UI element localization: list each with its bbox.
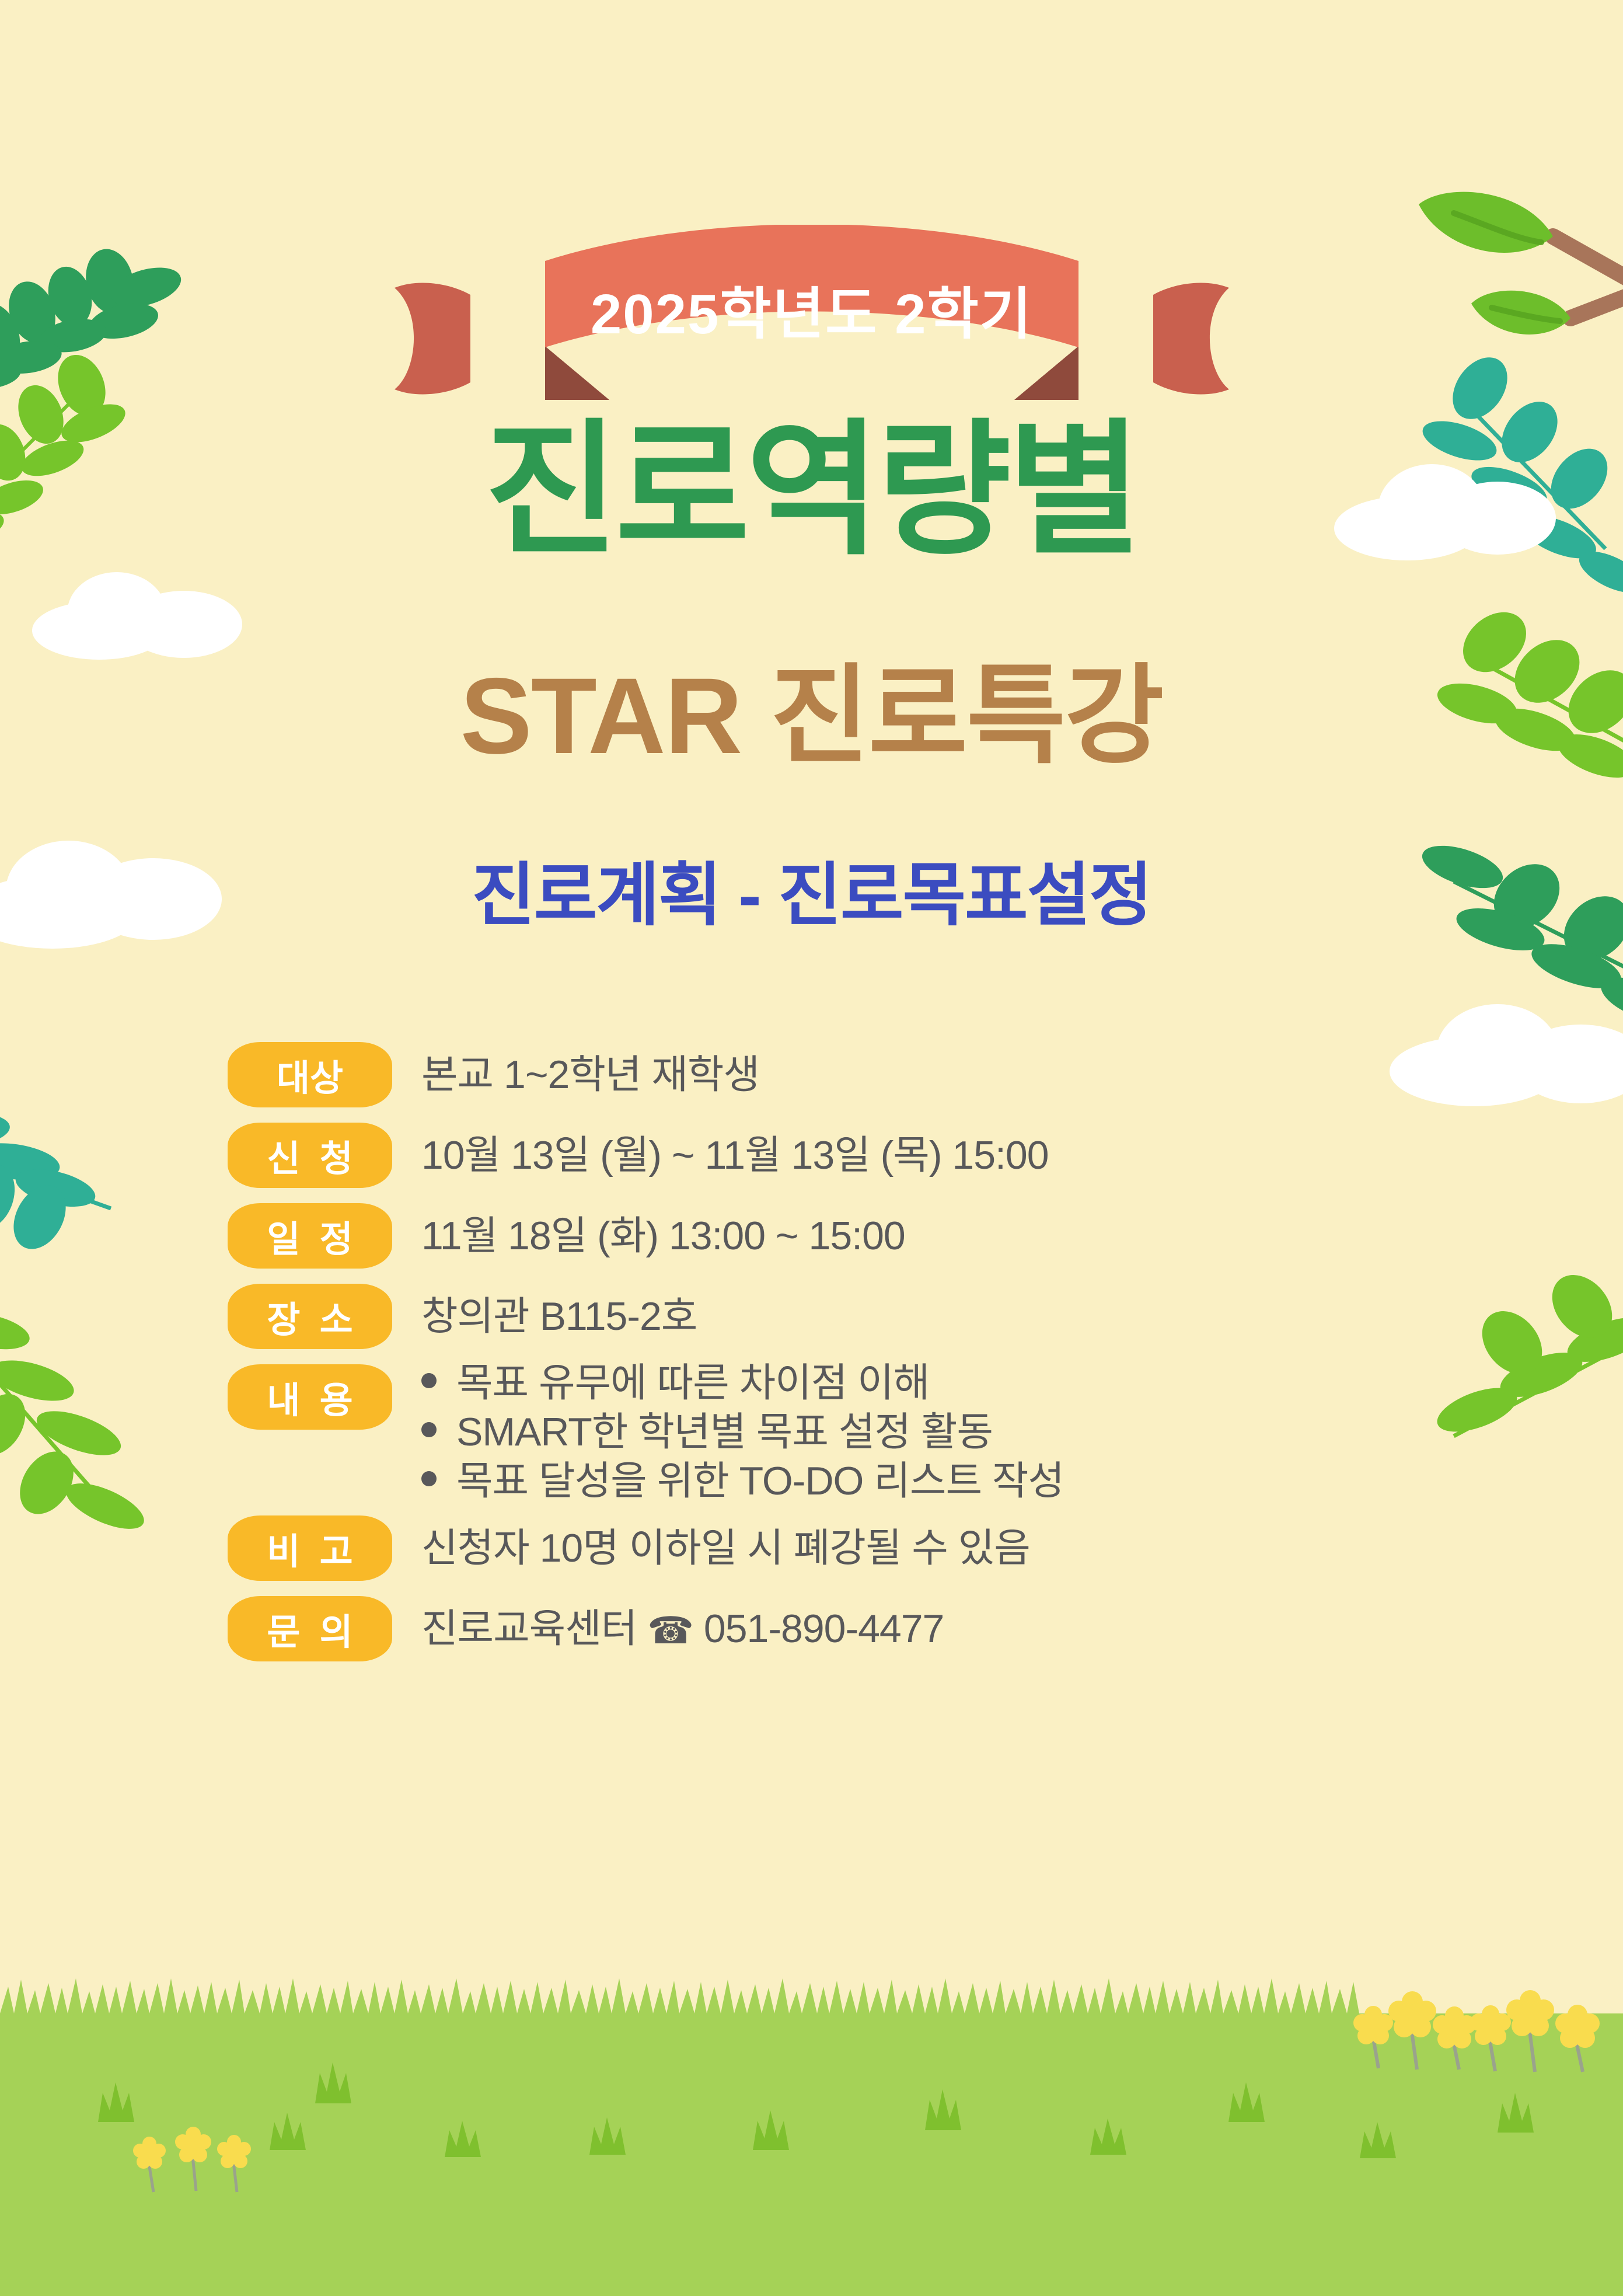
content-bullet-text: SMART한 학년별 목표 설정 활동 [456,1409,993,1455]
headline-line-3: 진로계획 - 진로목표설정 [0,861,1623,930]
telephone-icon: ☎ [647,1609,693,1652]
cloud-top-left [32,572,242,660]
banner-text: 2025학년도 2학기 [395,269,1229,350]
content-bullet-text: 목표 유무에 따른 차이점 이해 [456,1360,929,1406]
info-value-note: 신청자 10명 이하일 시 폐강될 수 있음 [421,1515,1471,1581]
info-row-schedule: 일 정 11월 18일 (화) 13:00 ~ 15:00 [228,1203,1471,1269]
info-label-schedule: 일 정 [228,1203,392,1269]
info-row-content: 내 용 목표 유무에 따른 차이점 이해 SMART한 학년별 목표 설정 활동… [228,1364,1471,1507]
info-value-schedule: 11월 18일 (화) 13:00 ~ 15:00 [421,1203,1471,1269]
content-bullet-item: 목표 달성을 위한 TO-DO 리스트 작성 [421,1458,1471,1504]
contact-organization: 진로교육센터 [421,1607,637,1651]
banner-ribbon: 2025학년도 2학기 [395,225,1229,400]
info-row-contact: 문 의 진로교육센터 ☎ 051-890-4477 [228,1596,1471,1663]
poster-canvas: 2025학년도 2학기 진로역량별 STAR 진로특강 진로계획 - 진로목표설… [0,0,1623,2296]
info-row-location: 장 소 창의관 B115-2호 [228,1284,1471,1349]
info-row-note: 비 고 신청자 10명 이하일 시 폐강될 수 있음 [228,1515,1471,1581]
info-label-content: 내 용 [228,1364,392,1430]
bullet-dot-icon [421,1373,437,1388]
content-bullet-item: 목표 유무에 따른 차이점 이해 [421,1360,1471,1406]
leaf-sprig-left-teal [0,905,181,1232]
contact-phone-number: 051-890-4477 [704,1607,944,1651]
info-value-location: 창의관 B115-2호 [421,1284,1471,1349]
tree-branch-top-right [1378,149,1623,394]
info-label-note: 비 고 [228,1515,392,1581]
leaf-sprig-left-lower [0,1255,198,1559]
info-label-target: 대상 [228,1042,392,1107]
info-row-target: 대상 본교 1~2학년 재학생 [228,1042,1471,1107]
content-bullet-text: 목표 달성을 위한 TO-DO 리스트 작성 [456,1458,1064,1504]
info-value-contact: 진로교육센터 ☎ 051-890-4477 [421,1596,1471,1663]
info-row-application: 신 청 10월 13일 (월) ~ 11월 13일 (목) 15:00 [228,1123,1471,1188]
info-label-location: 장 소 [228,1284,392,1349]
bullet-dot-icon [421,1471,437,1486]
grass-field [0,1957,1623,2296]
info-value-content: 목표 유무에 따른 차이점 이해 SMART한 학년별 목표 설정 활동 목표 … [421,1360,1471,1507]
headline-line-1: 진로역량별 [0,417,1623,563]
headline-line-2: STAR 진로특강 [0,663,1623,771]
info-label-contact: 문 의 [228,1596,392,1661]
info-value-target: 본교 1~2학년 재학생 [421,1042,1471,1107]
info-value-application: 10월 13일 (월) ~ 11월 13일 (목) 15:00 [421,1123,1471,1188]
info-label-application: 신 청 [228,1123,392,1188]
bullet-dot-icon [421,1422,437,1437]
content-bullet-item: SMART한 학년별 목표 설정 활동 [421,1409,1471,1455]
info-table: 대상 본교 1~2학년 재학생 신 청 10월 13일 (월) ~ 11월 13… [228,1042,1471,1678]
